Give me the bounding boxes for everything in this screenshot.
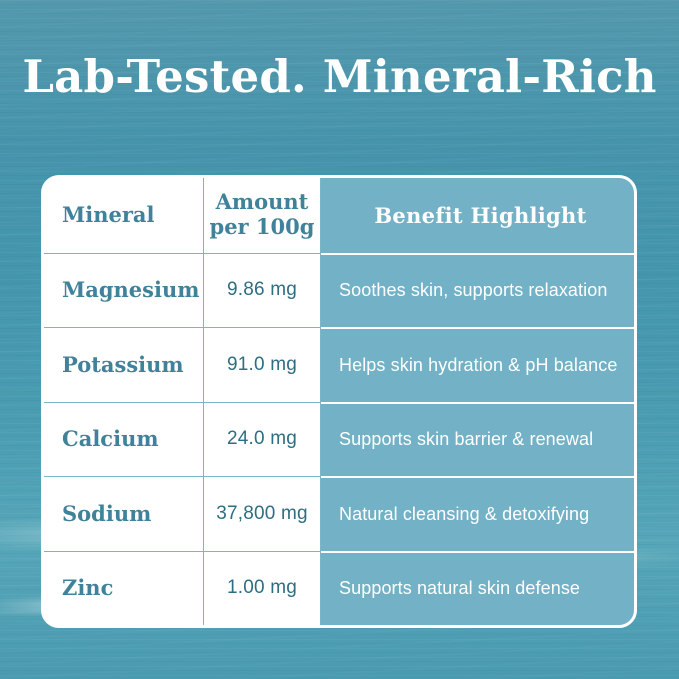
cell-amount: 24.0 mg — [204, 402, 321, 477]
table-row: Sodium 37,800 mg Natural cleansing & det… — [44, 476, 634, 551]
cell-amount: 37,800 mg — [204, 476, 321, 551]
header-cell-amount: Amount per 100g — [204, 178, 321, 253]
benefit-text: Helps skin hydration & pH balance — [339, 354, 617, 377]
page-title: Lab-Tested. Mineral-Rich — [0, 52, 679, 102]
benefit-text: Supports skin barrier & renewal — [339, 428, 593, 451]
header-label-benefit: Benefit Highlight — [339, 203, 622, 228]
amount-value: 91.0 mg — [208, 354, 316, 376]
cell-amount: 9.86 mg — [204, 253, 321, 328]
cell-benefit: Helps skin hydration & pH balance — [321, 327, 634, 402]
mineral-name: Zinc — [62, 576, 113, 600]
table-row: Calcium 24.0 mg Supports skin barrier & … — [44, 402, 634, 477]
cell-mineral: Zinc — [44, 551, 204, 626]
benefit-text: Soothes skin, supports relaxation — [339, 279, 607, 302]
header-label-mineral: Mineral — [62, 203, 155, 228]
cell-amount: 91.0 mg — [204, 327, 321, 402]
header-label-amount-line2: per 100g — [210, 214, 315, 239]
mineral-name: Calcium — [62, 427, 159, 451]
table-header-row: Mineral Amount per 100g Benefit Highligh… — [44, 178, 634, 253]
cell-benefit: Supports natural skin defense — [321, 551, 634, 626]
header-cell-mineral: Mineral — [44, 178, 204, 253]
amount-value: 9.86 mg — [208, 279, 316, 301]
cell-benefit: Natural cleansing & detoxifying — [321, 476, 634, 551]
amount-value: 1.00 mg — [208, 577, 316, 599]
cell-benefit: Soothes skin, supports relaxation — [321, 253, 634, 328]
cell-benefit: Supports skin barrier & renewal — [321, 402, 634, 477]
table-row: Zinc 1.00 mg Supports natural skin defen… — [44, 551, 634, 626]
cell-amount: 1.00 mg — [204, 551, 321, 626]
mineral-table-card: Mineral Amount per 100g Benefit Highligh… — [41, 175, 637, 628]
promo-graphic: Lab-Tested. Mineral-Rich Mineral Amount … — [0, 0, 679, 679]
amount-value: 24.0 mg — [208, 428, 316, 450]
header-label-amount-line1: Amount — [216, 189, 309, 214]
mineral-name: Magnesium — [62, 278, 199, 302]
amount-value: 37,800 mg — [208, 503, 316, 525]
header-cell-benefit: Benefit Highlight — [321, 178, 634, 253]
header-label-amount: Amount per 100g — [208, 190, 316, 240]
table-row: Magnesium 9.86 mg Soothes skin, supports… — [44, 253, 634, 328]
cell-mineral: Magnesium — [44, 253, 204, 328]
benefit-text: Supports natural skin defense — [339, 577, 580, 600]
table-row: Potassium 91.0 mg Helps skin hydration &… — [44, 327, 634, 402]
benefit-text: Natural cleansing & detoxifying — [339, 503, 589, 526]
cell-mineral: Potassium — [44, 327, 204, 402]
mineral-name: Potassium — [62, 353, 184, 377]
cell-mineral: Calcium — [44, 402, 204, 477]
mineral-table: Mineral Amount per 100g Benefit Highligh… — [44, 178, 634, 625]
mineral-name: Sodium — [62, 502, 151, 526]
cell-mineral: Sodium — [44, 476, 204, 551]
